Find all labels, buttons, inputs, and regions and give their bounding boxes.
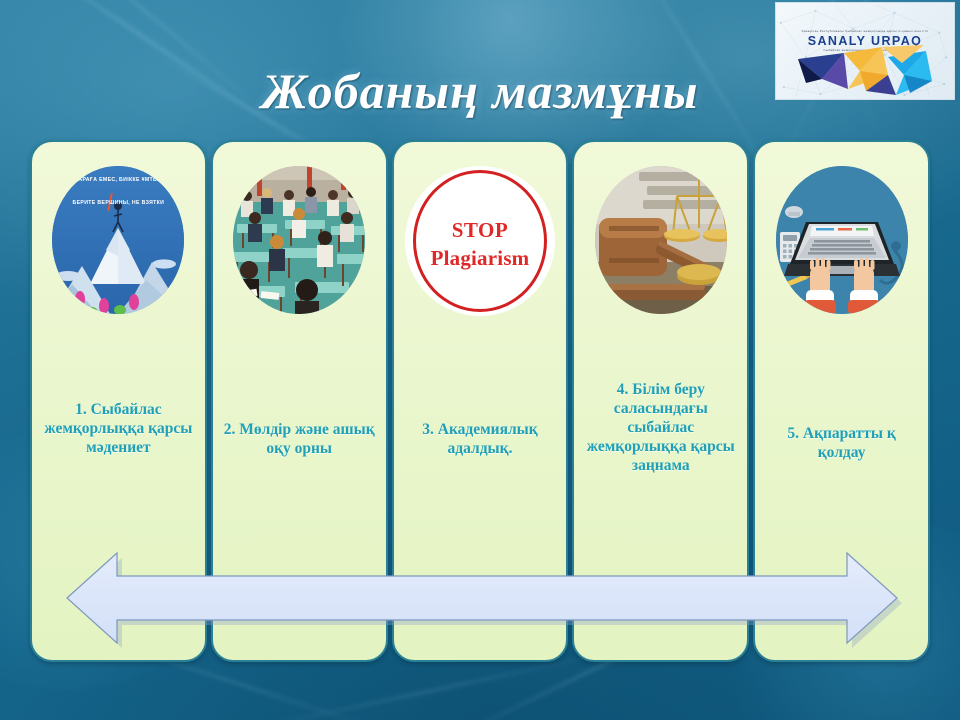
gavel-and-scales-photo: [595, 166, 727, 314]
card-2-label: 2. Мөлдір және ашық оқу орны: [213, 420, 386, 458]
card-4-label: 4. Білім беру саласындағы сыбайлас жемқо…: [574, 380, 747, 475]
card-1-thumbnail: ПАРАҒА ЕМЕС, БИІККЕ ҰМТЫЛ БЕРИТЕ ВЕРШИНЫ…: [52, 166, 184, 314]
poster-caption-ru: БЕРИТЕ ВЕРШИНЫ, НЕ ВЗЯТКИ: [52, 200, 184, 206]
double-headed-arrow: [62, 548, 902, 648]
poster-caption-kk: ПАРАҒА ЕМЕС, БИІККЕ ҰМТЫЛ: [52, 177, 184, 183]
card-3-label: 3. Академиялық адалдық.: [394, 420, 567, 458]
card-5-thumbnail: [776, 166, 908, 314]
stop-text: STOP: [405, 218, 555, 243]
card-2-thumbnail: [233, 166, 365, 314]
card-1-label: 1. Сыбайлас жемқорлыққа қарсы мәдениет: [32, 400, 205, 457]
laptop-typing-illustration: [776, 166, 908, 314]
presentation-slide: Қазақстан Республикасы Сыбайлас жемқорлы…: [0, 0, 960, 720]
exam-hall-photo: [233, 166, 365, 314]
plagiarism-text: Plagiarism: [405, 246, 555, 271]
card-3-thumbnail: STOP Plagiarism: [405, 166, 555, 316]
card-5-label: 5. Ақпаратты қ қолдау: [755, 424, 928, 462]
mountain-climber-photo: ПАРАҒА ЕМЕС, БИІККЕ ҰМТЫЛ БЕРИТЕ ВЕРШИНЫ…: [52, 166, 184, 314]
stop-plagiarism-badge: STOP Plagiarism: [405, 166, 555, 316]
page-title: Жобаның мазмұны: [0, 62, 960, 120]
card-4-thumbnail: [595, 166, 727, 314]
